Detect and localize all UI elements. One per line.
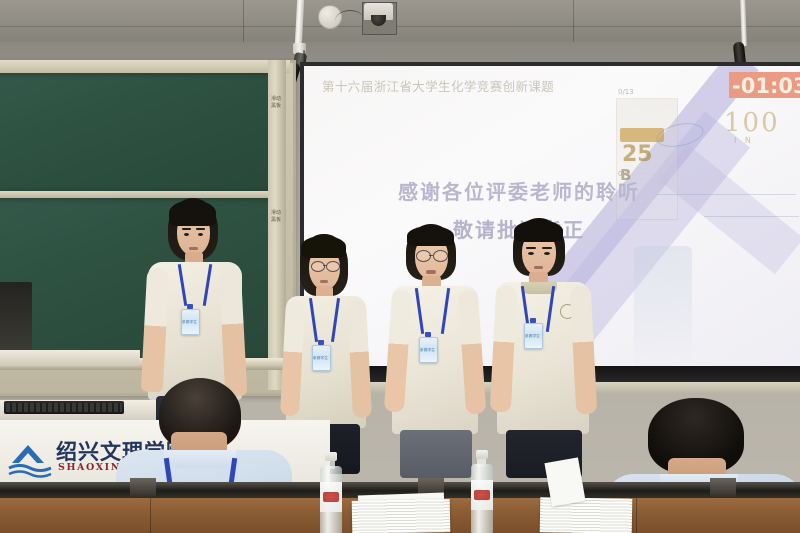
slide-artwork-bottle — [634, 246, 692, 366]
slide-artwork-rule — [656, 194, 796, 195]
chalkboard-top-rail — [0, 60, 290, 73]
presenter-4-eye — [544, 252, 550, 255]
bottle-2-brand-mark — [474, 490, 490, 500]
board-slider-label-upper: 滑动黑板 — [270, 96, 282, 109]
judge-left-collar — [164, 450, 236, 468]
presenter-1-brow — [196, 228, 205, 230]
presenter-1-mouth — [189, 247, 198, 250]
ceiling-panel-seam — [243, 0, 244, 42]
slide-artwork-rule — [704, 216, 799, 217]
chalkboard-middle-rail — [0, 191, 282, 198]
ceiling-seam-line — [0, 26, 800, 27]
presenter-2-glasses-left — [311, 261, 325, 272]
table-seam — [150, 498, 151, 533]
classroom-presentation-scene: 滑动黑板 滑动黑板 0/13 25 B 0'C 100 I N 第十六届浙江省大… — [0, 0, 800, 533]
presenter-3-mouth — [426, 270, 436, 274]
presenter-2-badge-label: 参赛学生 — [312, 356, 329, 361]
slide-artwork-big-number: 100 — [724, 108, 780, 138]
slide-main-title: 感谢各位评委老师的聆听 — [364, 176, 674, 205]
slide-artwork-caps: I N — [734, 136, 754, 145]
countdown-timer: -01:03 — [732, 74, 800, 98]
presenter-3-glasses-left — [416, 250, 431, 262]
bottle-1-brand-mark — [323, 492, 339, 502]
presenter-4-badge-label: 参赛学生 — [524, 334, 541, 339]
presenter-1-eye — [198, 233, 203, 236]
rail-bracket — [130, 478, 156, 500]
presenter-1-eye — [184, 233, 189, 236]
presenter-1-badge-label: 参赛学生 — [181, 320, 198, 325]
university-logo-icon — [8, 441, 52, 479]
presenter-3-badge-label: 参赛学生 — [419, 348, 436, 353]
presenter-4-eye — [528, 252, 534, 255]
rail-bracket — [710, 478, 736, 500]
podium-upper-surface — [0, 350, 140, 366]
paper-stack-1 — [352, 499, 451, 533]
bottle-1-cap — [325, 452, 337, 461]
presenter-2-mouth — [320, 280, 328, 283]
presenter-1-fringe — [169, 200, 216, 226]
presenter-3-glasses-bridge — [429, 255, 433, 256]
presenter-4-brow — [526, 247, 536, 249]
presenter-2-fringe — [301, 236, 346, 258]
slide-artwork-ratio: 0/13 — [618, 88, 634, 96]
presenter-4-fringe — [514, 220, 563, 242]
presenter-3-trousers — [400, 430, 472, 478]
held-paper-sheet — [544, 457, 585, 506]
ceiling — [0, 0, 800, 42]
slide-artwork-number: 25 — [622, 142, 653, 167]
bottle-2-cap — [476, 450, 488, 459]
chalkboard-panel-upper — [0, 73, 282, 191]
presenter-4-mouth — [534, 266, 543, 269]
ceiling-panel-seam — [573, 0, 574, 42]
presenter-2-glasses-bridge — [323, 265, 326, 266]
board-slider-label-lower: 滑动黑板 — [270, 210, 282, 223]
presenter-3-fringe — [407, 226, 454, 246]
presenter-4-brow — [542, 247, 552, 249]
presenter-1-brow — [182, 228, 191, 230]
slide-header-title: 第十六届浙江省大学生化学竞赛创新课题 — [322, 76, 554, 95]
keyboard-keys — [6, 403, 122, 412]
table-seam — [636, 498, 637, 533]
presenter-3-glasses-right — [433, 250, 448, 262]
presenter-2-glasses-right — [326, 261, 340, 272]
podium-monitor — [0, 282, 32, 350]
